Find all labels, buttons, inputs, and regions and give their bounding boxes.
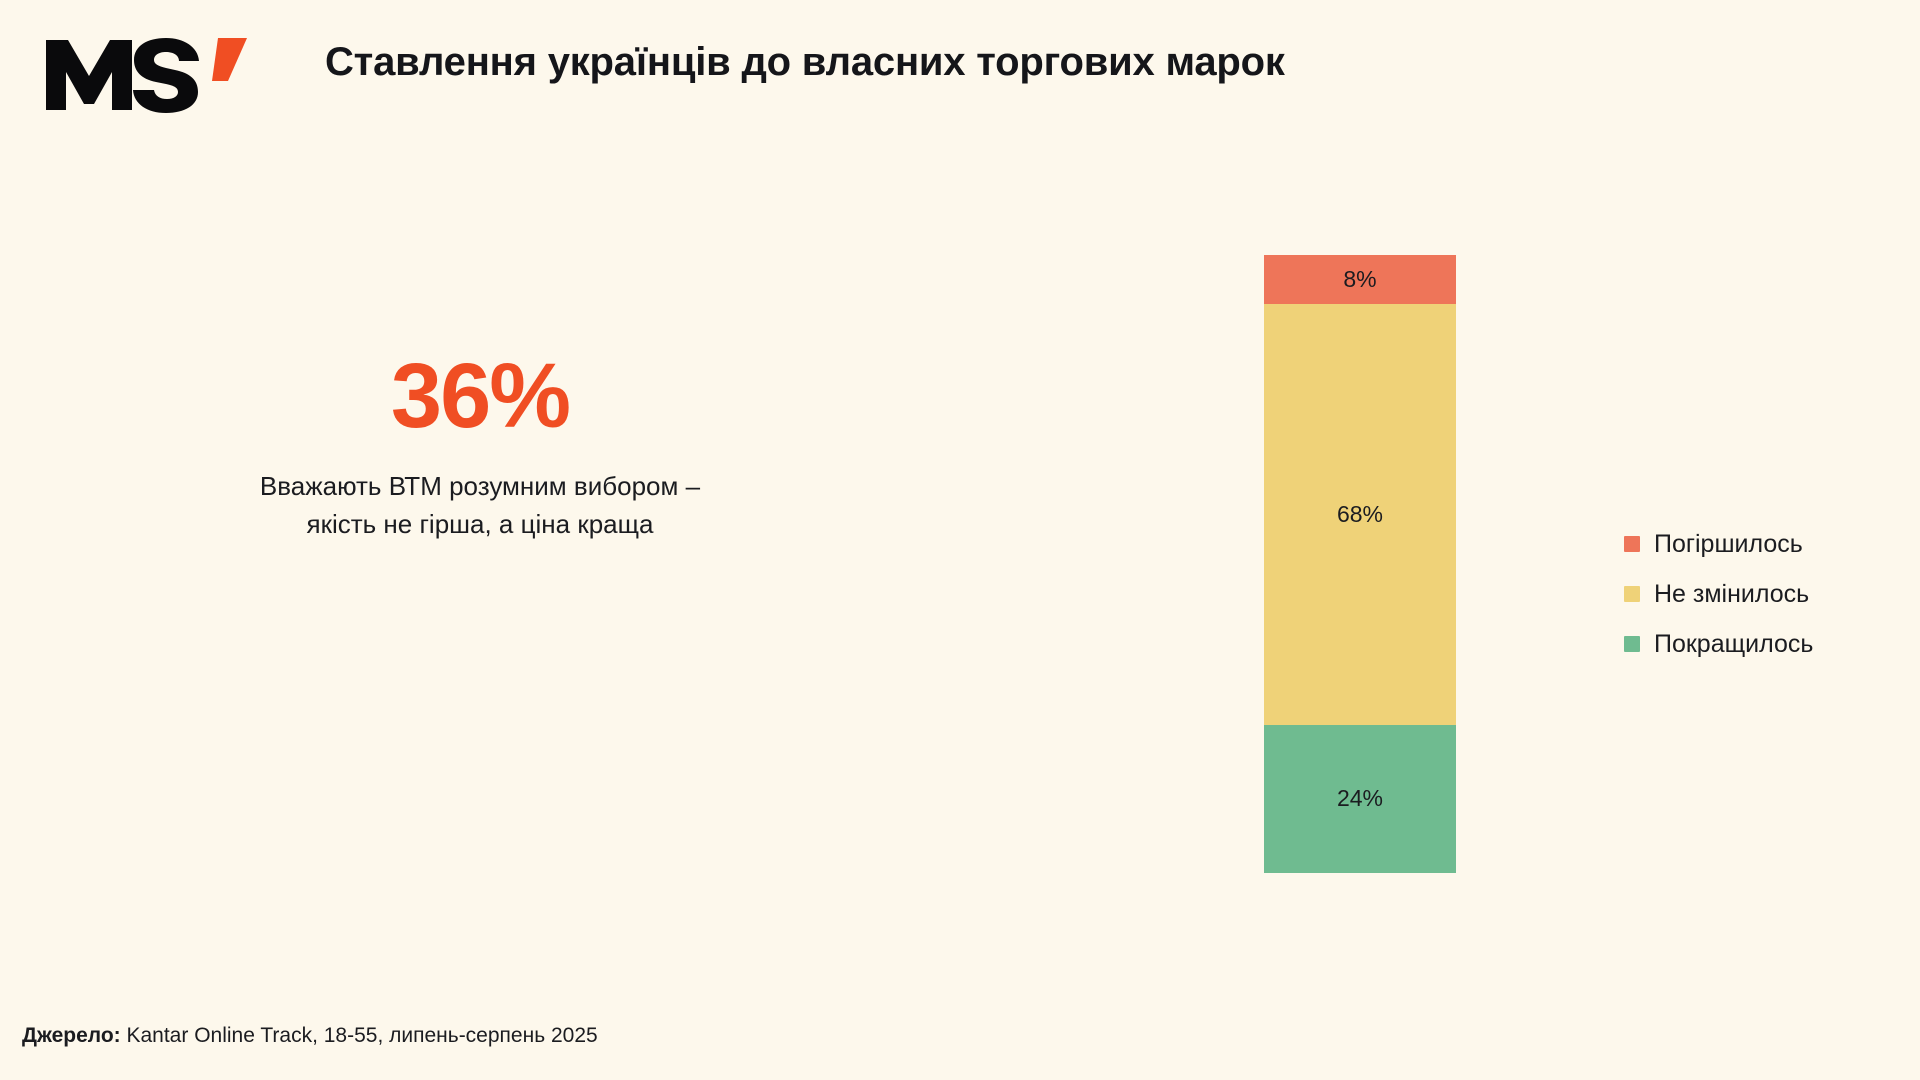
legend-label-improved: Покращилось xyxy=(1654,630,1813,659)
ms-logo-icon xyxy=(42,28,262,116)
legend-item-worsened[interactable]: Погіршилось xyxy=(1624,519,1813,569)
source-label: Джерело: xyxy=(22,1024,126,1047)
source-note: Джерело: Kantar Online Track, 18-55, лип… xyxy=(22,1024,598,1048)
legend-swatch-improved xyxy=(1624,636,1640,652)
bar-segment-label-improved: 24% xyxy=(1337,785,1383,812)
legend-item-unchanged[interactable]: Не змінилось xyxy=(1624,569,1813,619)
bar-segment-unchanged[interactable]: 68% xyxy=(1264,304,1456,724)
legend-item-improved[interactable]: Покращилось xyxy=(1624,619,1813,669)
key-stat-block: 36% Вважають ВТМ розумним вибором – якіс… xyxy=(120,350,840,543)
key-stat-value: 36% xyxy=(120,350,840,442)
legend-swatch-worsened xyxy=(1624,536,1640,552)
source-text: Kantar Online Track, 18-55, липень-серпе… xyxy=(126,1024,597,1047)
chart-legend: Погіршилось Не змінилось Покращилось xyxy=(1624,519,1813,669)
stacked-bar-chart: 8% 68% 24% xyxy=(1264,255,1456,873)
key-stat-caption-line-2: якість не гірша, а ціна краща xyxy=(120,506,840,544)
legend-label-unchanged: Не змінилось xyxy=(1654,580,1809,609)
page-title: Ставлення українців до власних торгових … xyxy=(325,40,1285,85)
legend-swatch-unchanged xyxy=(1624,586,1640,602)
infographic-slide: Ставлення українців до власних торгових … xyxy=(0,0,1920,1080)
bar-segment-label-worsened: 8% xyxy=(1343,266,1376,293)
ms-logo xyxy=(42,28,262,116)
legend-label-worsened: Погіршилось xyxy=(1654,530,1803,559)
logo-apostrophe-icon xyxy=(212,38,247,81)
key-stat-caption: Вважають ВТМ розумним вибором – якість н… xyxy=(120,468,840,543)
bar-segment-improved[interactable]: 24% xyxy=(1264,725,1456,873)
bar-segment-label-unchanged: 68% xyxy=(1337,501,1383,528)
bar-segment-worsened[interactable]: 8% xyxy=(1264,255,1456,304)
key-stat-caption-line-1: Вважають ВТМ розумним вибором – xyxy=(120,468,840,506)
